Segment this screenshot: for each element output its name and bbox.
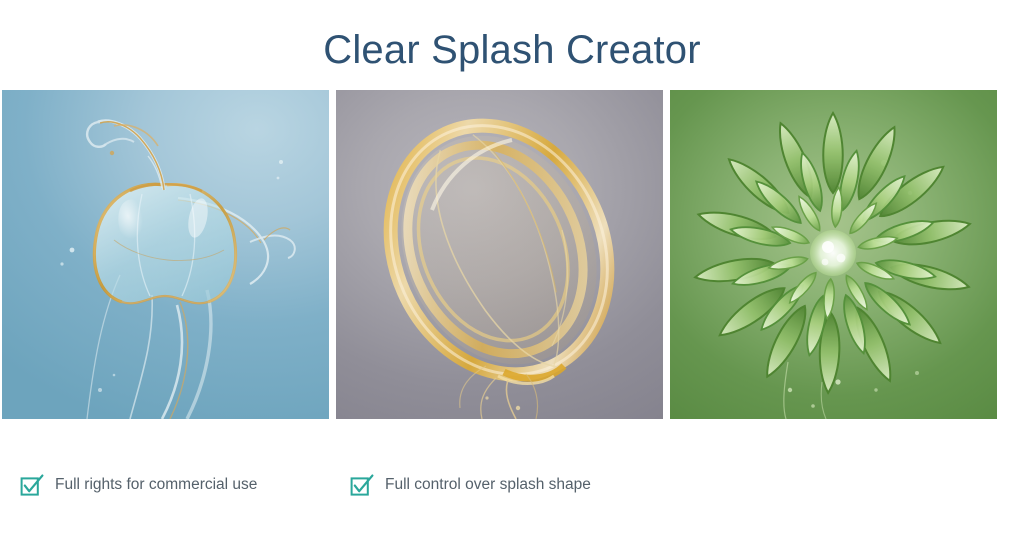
flower-splash-image [670,90,997,419]
promo-page: Clear Splash Creator [0,0,1024,551]
checkbox-checked-icon[interactable] [20,473,44,497]
gallery-item-apple-splash[interactable] [2,90,329,419]
feature-label: Full rights for commercial use [55,477,257,493]
ring-splash-image [336,90,663,419]
feature-label: Full control over splash shape [385,477,591,493]
feature-item-splash-control[interactable]: Full control over splash shape [350,473,591,497]
apple-splash-image [2,90,329,419]
gallery-item-ring-splash[interactable] [336,90,663,419]
checkbox-checked-icon[interactable] [350,473,374,497]
image-gallery [2,90,998,419]
feature-item-commercial-use[interactable]: Full rights for commercial use [20,473,350,497]
gallery-item-flower-splash[interactable] [670,90,997,419]
page-title: Clear Splash Creator [0,28,1024,72]
feature-list: Full rights for commercial use Full cont… [20,473,591,497]
